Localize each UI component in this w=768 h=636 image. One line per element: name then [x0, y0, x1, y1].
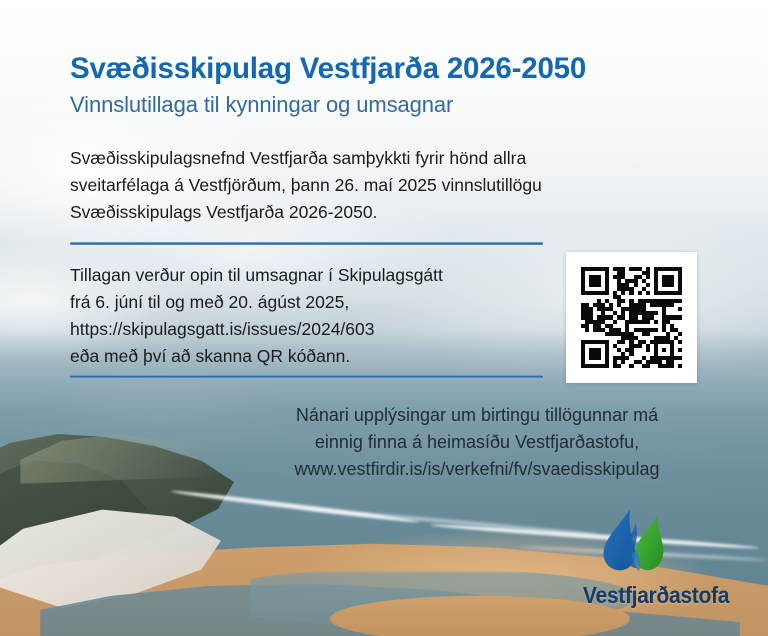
- more-info-line-2: einnig finna á heimasíðu Vestfjarðastofu…: [232, 429, 722, 456]
- approval-line-1: Svæðisskipulagsnefnd Vestfjarða samþykkt…: [70, 145, 710, 172]
- skipulagsgatt-link[interactable]: https://skipulagsgatt.is/issues/2024/603: [70, 316, 550, 343]
- approval-paragraph: Svæðisskipulagsnefnd Vestfjarða samþykkt…: [70, 145, 710, 226]
- divider-bottom: [70, 375, 543, 378]
- leaf-mark-icon: [594, 506, 672, 580]
- poster: Svæðisskipulag Vestfjarða 2026-2050 Vinn…: [0, 0, 768, 636]
- consultation-line-2: frá 6. júní til og með 20. ágúst 2025,: [70, 289, 550, 316]
- consultation-line-4: eða með því að skanna QR kóðann.: [70, 343, 550, 370]
- poster-title: Svæðisskipulag Vestfjarða 2026-2050: [70, 52, 730, 86]
- poster-content: Svæðisskipulag Vestfjarða 2026-2050 Vinn…: [0, 0, 768, 636]
- more-info-paragraph: Nánari upplýsingar um birtingu tillögunn…: [232, 402, 722, 483]
- qr-code-icon[interactable]: [581, 267, 682, 368]
- vestfjardastofa-logo: Vestfjarðastofa: [566, 506, 746, 618]
- qr-code-card[interactable]: [566, 252, 697, 383]
- logo-wordmark: Vestfjarðastofa: [573, 582, 739, 609]
- more-info-line-1: Nánari upplýsingar um birtingu tillögunn…: [232, 402, 722, 429]
- approval-line-2: sveitarfélaga á Vestfjörðum, þann 26. ma…: [70, 172, 710, 199]
- divider-top: [70, 242, 543, 245]
- vestfirdir-website-link[interactable]: www.vestfirdir.is/is/verkefni/fv/svaedis…: [232, 456, 722, 483]
- consultation-paragraph: Tillagan verður opin til umsagnar í Skip…: [70, 262, 550, 370]
- approval-line-3: Svæðisskipulags Vestfjarða 2026-2050.: [70, 199, 710, 226]
- consultation-line-1: Tillagan verður opin til umsagnar í Skip…: [70, 262, 550, 289]
- poster-subtitle: Vinnslutillaga til kynningar og umsagnar: [70, 92, 730, 118]
